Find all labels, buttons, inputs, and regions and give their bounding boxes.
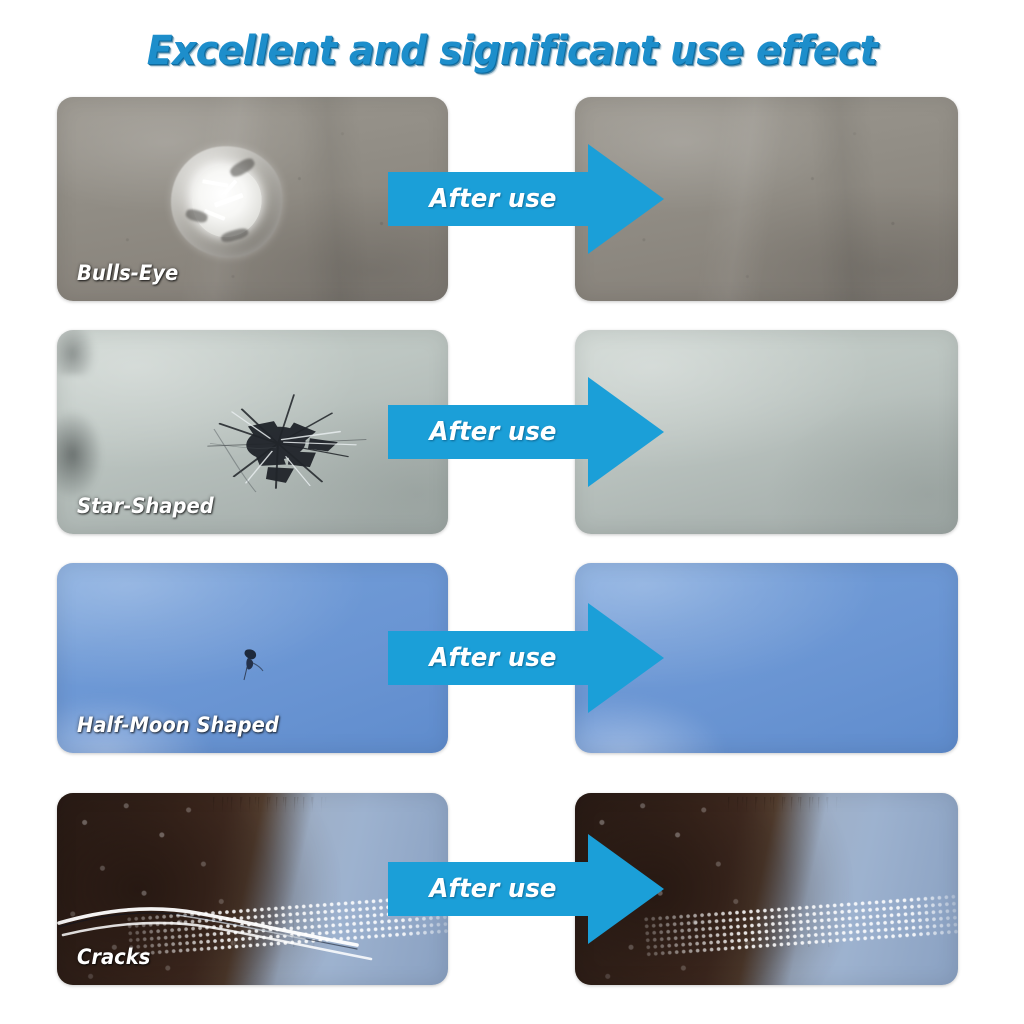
before-panel-cracks: Cracks: [57, 793, 448, 985]
row-cracks: Cracks After use: [0, 793, 1024, 985]
before-label-bulls-eye: Bulls-Eye: [77, 261, 178, 285]
after-image-half-moon-shaped: [575, 563, 958, 753]
after-panel-star-shaped: [575, 330, 958, 534]
page-title: Excellent and significant use effect: [31, 28, 994, 74]
before-label-cracks: Cracks: [77, 945, 150, 969]
before-label-star-shaped: Star-Shaped: [77, 494, 214, 518]
before-panel-half-moon-shaped: Half-Moon Shaped: [57, 563, 448, 753]
row-bulls-eye: Bulls-Eye After use: [0, 97, 1024, 301]
row-star-shaped: Star-Shaped After use: [0, 330, 1024, 534]
before-panel-star-shaped: Star-Shaped: [57, 330, 448, 534]
before-label-half-moon-shaped: Half-Moon Shaped: [77, 713, 279, 737]
damage-bulls-eye-icon: [164, 139, 290, 265]
poster-root: Excellent and significant use effect Bul…: [0, 0, 1024, 1024]
after-panel-bulls-eye: [575, 97, 958, 301]
before-panel-bulls-eye: Bulls-Eye: [57, 97, 448, 301]
after-image-cracks: [575, 793, 958, 985]
damage-half-moon-icon: [237, 647, 263, 681]
after-panel-cracks: [575, 793, 958, 985]
after-image-bulls-eye: [575, 97, 958, 301]
after-panel-half-moon-shaped: [575, 563, 958, 753]
after-image-star-shaped: [575, 330, 958, 534]
damage-star-shaped-icon: [190, 383, 370, 501]
row-half-moon-shaped: Half-Moon Shaped After use: [0, 563, 1024, 753]
